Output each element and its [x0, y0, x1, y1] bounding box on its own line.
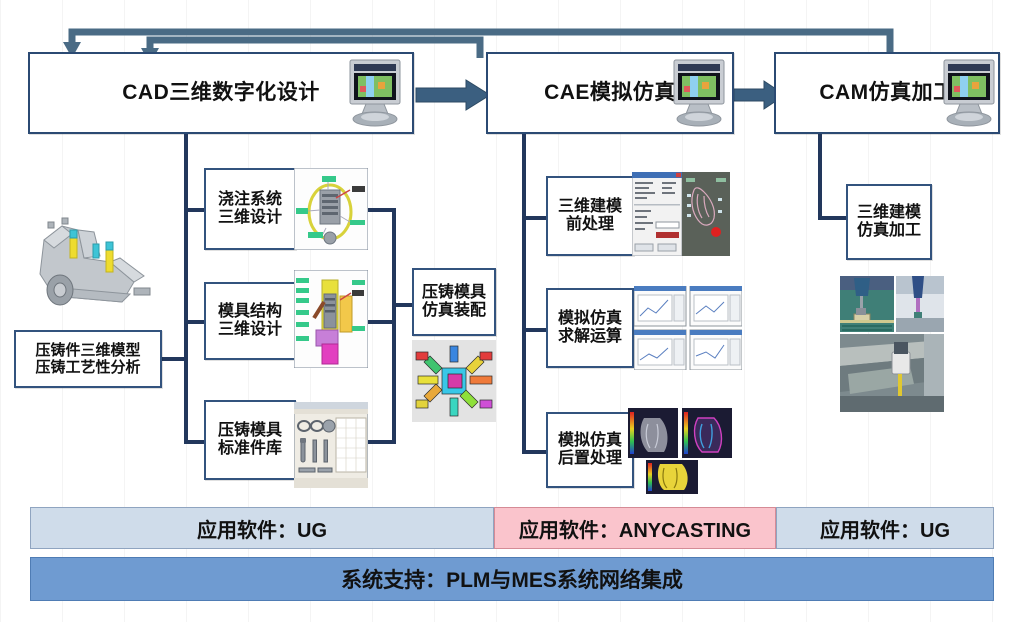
- cae-child-label-1: 三维建模 前处理: [558, 198, 622, 235]
- assembly-node-box[interactable]: 压铸模具 仿真装配: [412, 268, 496, 336]
- cam-child-label-1: 三维建模 仿真加工: [857, 204, 921, 241]
- connector-cad-drop: [184, 134, 188, 198]
- software-bar-label-3: 应用软件：UG: [820, 514, 950, 543]
- assembly-node-label: 压铸模具 仿真装配: [422, 284, 486, 321]
- connector-cam-branch-1: [818, 216, 848, 220]
- system-support-label: 系统支持：PLM与MES系统网络集成: [341, 564, 683, 594]
- connector-cae-branch-1: [522, 216, 548, 220]
- stage-label-cae: CAE模拟仿真: [544, 81, 676, 105]
- input-node-box[interactable]: 压铸件三维模型 压铸工艺性分析: [14, 330, 162, 388]
- cam-machining-simulation-thumbnail: [840, 276, 944, 412]
- standard-parts-library-thumbnail: [294, 402, 368, 488]
- connector-input-to-spine: [160, 357, 186, 361]
- connector-cae-branch-3: [522, 450, 548, 454]
- connector-collector-to-assembly: [392, 303, 414, 307]
- cae-solver-windows-thumbnail: [634, 286, 742, 370]
- cae-child-label-3: 模拟仿真 后置处理: [558, 432, 622, 469]
- stage-label-cad: CAD三维数字化设计: [122, 81, 320, 105]
- software-bar-label-1: 应用软件：UG: [197, 514, 327, 543]
- connector-cae-drop: [522, 134, 526, 194]
- connector-cae-branch-2: [522, 328, 548, 332]
- arrow-cad-to-cae: [414, 78, 494, 112]
- software-bar-3[interactable]: 应用软件：UG: [776, 507, 994, 549]
- cae-preprocessing-thumbnail: [632, 172, 730, 256]
- cae-child-box-2[interactable]: 模拟仿真 求解运算: [546, 288, 634, 368]
- cad-child-label-1: 浇注系统 三维设计: [218, 191, 282, 228]
- cad-child-label-2: 模具结构 三维设计: [218, 303, 282, 340]
- computer-monitor-icon: [668, 58, 730, 135]
- connector-cae-spine: [522, 194, 526, 452]
- connector-cam-drop: [818, 134, 822, 220]
- mold-assembly-exploded-thumbnail: [412, 340, 496, 422]
- input-node-label: 压铸件三维模型 压铸工艺性分析: [35, 342, 140, 377]
- die-casting-part-3d-model-thumbnail: [14, 196, 166, 324]
- connector-cad-branch-2: [184, 320, 206, 324]
- cad-child-box-3[interactable]: 压铸模具 标准件库: [204, 400, 296, 480]
- system-support-bar[interactable]: 系统支持：PLM与MES系统网络集成: [30, 557, 994, 601]
- connector-collector-spine: [392, 208, 396, 444]
- cad-child-box-2[interactable]: 模具结构 三维设计: [204, 282, 296, 360]
- diagram-canvas: CAD三维数字化设计 CAE模拟仿真: [0, 0, 1024, 622]
- gating-system-3d-design-thumbnail: [294, 168, 368, 250]
- computer-monitor-icon: [344, 58, 406, 135]
- cad-child-label-3: 压铸模具 标准件库: [218, 422, 282, 459]
- cae-child-box-3[interactable]: 模拟仿真 后置处理: [546, 412, 634, 488]
- software-bar-label-2: 应用软件：ANYCASTING: [519, 514, 751, 543]
- connector-cad-branch-3: [184, 440, 206, 444]
- cae-child-box-1[interactable]: 三维建模 前处理: [546, 176, 634, 256]
- connector-cad-branch-1: [184, 208, 206, 212]
- cam-child-box-1[interactable]: 三维建模 仿真加工: [846, 184, 932, 260]
- stage-label-cam: CAM仿真加工: [819, 81, 954, 105]
- mold-structure-3d-design-thumbnail: [294, 270, 368, 368]
- cae-postprocessing-thumbnail: [628, 408, 732, 494]
- cae-child-label-2: 模拟仿真 求解运算: [558, 310, 622, 347]
- software-bar-2[interactable]: 应用软件：ANYCASTING: [494, 507, 776, 549]
- computer-monitor-icon: [938, 58, 1000, 135]
- cad-child-box-1[interactable]: 浇注系统 三维设计: [204, 168, 296, 250]
- software-bar-1[interactable]: 应用软件：UG: [30, 507, 494, 549]
